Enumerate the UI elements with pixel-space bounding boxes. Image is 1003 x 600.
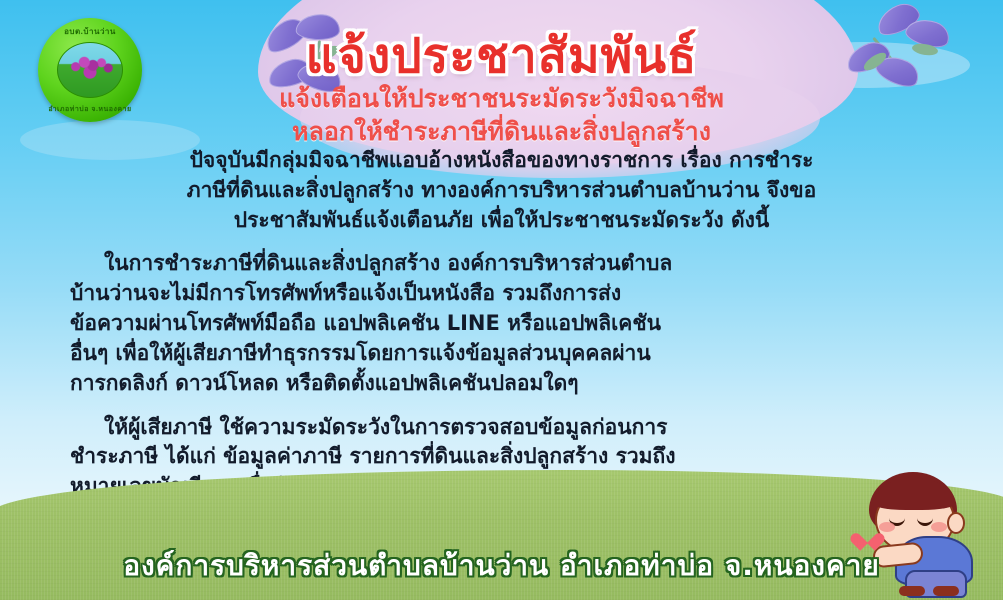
body-line: ปัจจุบันมีกลุ่มมิจฉาชีพแอบอ้างหนังสือของ… [24,146,979,176]
poster-subtitle: แจ้งเตือนให้ประชาชนระมัดระวังมิจฉาชีพ หล… [0,82,1003,148]
announcement-poster: อบต.บ้านว่าน อำเภอท่าบ่อ จ.หนองคาย แจ้งป… [0,0,1003,600]
boy-cheek-left [879,522,895,532]
body-line: ข้อความผ่านโทรศัพท์มือถือ แอปพลิเคชัน LI… [70,309,953,339]
subtitle-line: แจ้งเตือนให้ประชาชนระมัดระวังมิจฉาชีพ [0,82,1003,115]
body-line: ชำระภาษี ได้แก่ ข้อมูลค่าภาษี รายการที่ด… [70,442,953,472]
body-line: ภาษีที่ดินและสิ่งปลูกสร้าง ทางองค์การบริ… [24,176,979,206]
body-line: ในการชำระภาษีที่ดินและสิ่งปลูกสร้าง องค์… [70,249,953,279]
boy-ear [947,512,965,534]
body-line: ให้ผู้เสียภาษี ใช้ความระมัดระวังในการตรว… [70,413,953,443]
body-line: บ้านว่านจะไม่มีการโทรศัพท์หรือแจ้งเป็นหน… [70,279,953,309]
subtitle-line: หลอกให้ชำระภาษีที่ดินและสิ่งปลูกสร้าง [0,115,1003,148]
body-line: การกดลิงก์ ดาวน์โหลด หรือติดตั้งแอปพลิเค… [70,369,953,399]
boy-cheek-right [931,522,947,532]
heart-icon [857,526,877,544]
paragraph-2: ในการชำระภาษีที่ดินและสิ่งปลูกสร้าง องค์… [24,249,979,398]
body-line: ประชาสัมพันธ์แจ้งเตือนภัย เพื่อให้ประชาช… [24,206,979,236]
footer-organization: องค์การบริหารส่วนตำบลบ้านว่าน อำเภอท่าบ่… [0,544,1003,588]
paragraph-1: ปัจจุบันมีกลุ่มมิจฉาชีพแอบอ้างหนังสือของ… [24,146,979,235]
body-line: อื่นๆ เพื่อให้ผู้เสียภาษีทำธุรกรรมโดยการ… [70,339,953,369]
